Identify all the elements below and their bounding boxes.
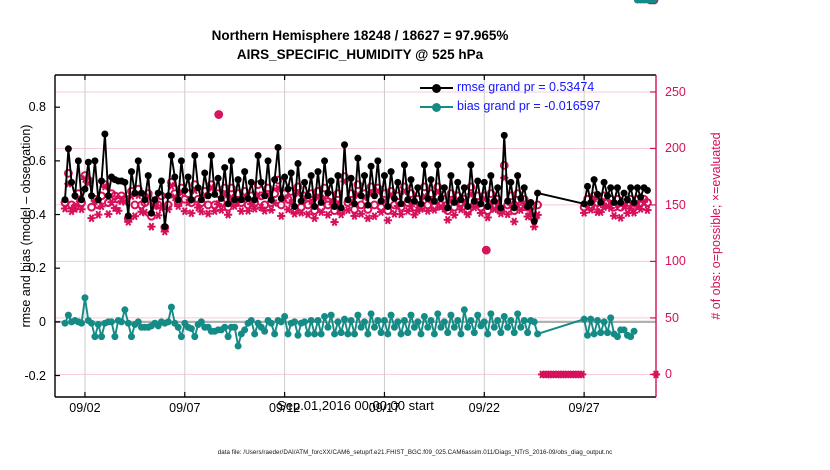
series-marker [507, 179, 514, 186]
series-marker [584, 332, 591, 339]
series-marker [531, 318, 538, 325]
series-marker [181, 187, 188, 194]
series-marker [268, 320, 275, 327]
series-marker [161, 223, 168, 230]
series-marker [424, 195, 431, 202]
x-tick-label: 09/02 [69, 401, 100, 415]
series-marker [304, 330, 311, 337]
series-marker [358, 192, 365, 199]
series-marker [225, 333, 232, 340]
series-marker [351, 330, 358, 337]
series-marker [308, 317, 315, 324]
series-marker [98, 177, 105, 184]
series-marker [191, 152, 198, 159]
series-marker [581, 200, 588, 207]
series-marker [481, 318, 488, 325]
series-marker [121, 306, 128, 313]
series-marker [621, 190, 628, 197]
series-marker [318, 199, 325, 206]
series-marker [235, 176, 242, 183]
series-marker [637, 194, 644, 201]
series-marker [467, 317, 474, 324]
series-marker [75, 157, 82, 164]
series-marker [331, 203, 338, 210]
series-marker [451, 324, 458, 331]
y-tick-label-right: 250 [665, 85, 686, 99]
series-marker [408, 176, 415, 183]
series-marker [321, 313, 328, 320]
series-marker [491, 324, 498, 331]
series-marker [471, 329, 478, 336]
series-marker [314, 317, 321, 324]
data-file-path: data file: /Users/raeder/DAI/ATM_forcXX/… [0, 449, 830, 456]
series-marker [331, 330, 338, 337]
series-marker [341, 141, 348, 148]
series-marker [514, 172, 521, 179]
series-marker [494, 317, 501, 324]
series-marker [531, 218, 538, 225]
series-marker [218, 195, 225, 202]
series-marker [364, 202, 371, 209]
series-marker [497, 329, 504, 336]
series-marker [421, 313, 428, 320]
series-marker [491, 198, 498, 205]
series-marker [171, 173, 178, 180]
series-marker [278, 195, 285, 202]
series-marker [195, 184, 202, 191]
series-marker [338, 204, 345, 211]
series-marker [338, 329, 345, 336]
series-marker [91, 157, 98, 164]
series-marker [281, 173, 288, 180]
series-marker [334, 318, 341, 325]
series-marker [504, 324, 511, 331]
y-axis-label-left: rmse and bias (model – observation) [19, 76, 33, 376]
series-marker [594, 317, 601, 324]
series-marker [474, 177, 481, 184]
series-marker [591, 330, 598, 337]
series-marker [644, 187, 651, 194]
series-marker [241, 168, 248, 175]
series-marker [85, 159, 92, 166]
series-marker [241, 326, 248, 333]
series-marker [421, 161, 428, 168]
series-marker [517, 195, 524, 202]
series-marker [394, 179, 401, 186]
series-marker [294, 160, 301, 167]
series-marker [258, 179, 265, 186]
series-marker [198, 196, 205, 203]
y-axis-label-right: # of obs: o=possible; ×=evaluated [709, 76, 723, 376]
series-marker [594, 191, 601, 198]
y-tick-label-right: 50 [665, 311, 679, 325]
series-marker [444, 204, 451, 211]
series-marker [91, 333, 98, 340]
series-marker [408, 312, 415, 319]
series-marker [78, 196, 85, 203]
series-marker [381, 317, 388, 324]
series-marker [328, 312, 335, 319]
series-marker [394, 318, 401, 325]
series-marker [414, 318, 421, 325]
series-marker [285, 330, 292, 337]
series-marker [225, 200, 232, 207]
series-marker [371, 192, 378, 199]
series-marker [424, 324, 431, 331]
series-marker [461, 184, 468, 191]
series-marker [417, 200, 424, 207]
y-tick-label-left: 0.6 [0, 154, 46, 168]
series-marker [178, 333, 185, 340]
series-marker [324, 190, 331, 197]
x-tick-label: 09/22 [469, 401, 500, 415]
series-marker [434, 310, 441, 317]
series-marker [265, 157, 272, 164]
series-marker [384, 330, 391, 337]
series-marker [221, 164, 228, 171]
series-marker [185, 173, 192, 180]
series-marker [175, 196, 182, 203]
series-marker [511, 329, 518, 336]
series-marker [175, 324, 182, 331]
series-marker [601, 179, 608, 186]
series-marker [261, 192, 268, 199]
y-tick-label-left: -0.2 [0, 369, 46, 383]
series-marker [98, 333, 105, 340]
series-marker [111, 333, 118, 340]
series-marker [145, 172, 152, 179]
series-marker [441, 184, 448, 191]
series-marker [294, 332, 301, 339]
series-marker [461, 306, 468, 313]
series-marker [138, 190, 145, 197]
series-marker [471, 198, 478, 205]
series-marker [151, 196, 158, 203]
series-marker [434, 161, 441, 168]
series-marker [285, 186, 292, 193]
series-marker [95, 321, 102, 328]
series-marker [457, 330, 464, 337]
series-marker [484, 330, 491, 337]
series-marker [121, 179, 128, 186]
series-marker [378, 329, 385, 336]
series-marker [141, 196, 148, 203]
series-marker [68, 179, 75, 186]
series-marker [291, 203, 298, 210]
series-marker [268, 196, 275, 203]
series-marker [634, 184, 641, 191]
series-marker [188, 325, 195, 332]
series-marker [431, 198, 438, 205]
series-marker [191, 333, 198, 340]
series-marker [411, 198, 418, 205]
series-marker [381, 172, 388, 179]
series-marker [158, 177, 165, 184]
series-marker [334, 172, 341, 179]
series-marker [78, 320, 85, 327]
series-marker [444, 329, 451, 336]
series-marker [341, 316, 348, 323]
series-marker [238, 196, 245, 203]
series-marker [511, 204, 518, 211]
series-marker [324, 324, 331, 331]
series-marker [61, 320, 68, 327]
series-marker [617, 199, 624, 206]
series-marker [155, 190, 162, 197]
series-marker [504, 198, 511, 205]
series-marker [614, 333, 621, 340]
x-tick-label: 09/07 [169, 401, 200, 415]
series-marker [597, 329, 604, 336]
series-marker [71, 192, 78, 199]
series-marker [604, 192, 611, 199]
series-marker [248, 317, 255, 324]
series-marker [255, 152, 262, 159]
series-marker [288, 169, 295, 176]
series-marker [627, 184, 634, 191]
series-marker [521, 184, 528, 191]
series-marker [248, 179, 255, 186]
y-tick-label-left: 0.4 [0, 208, 46, 222]
legend-label-rmse: rmse grand pr = 0.53474 [457, 78, 594, 97]
legend-label-bias: bias grand pr = -0.016597 [457, 97, 601, 116]
series-marker [354, 312, 361, 319]
series-marker [125, 212, 132, 219]
series-marker [597, 199, 604, 206]
series-marker [81, 294, 88, 301]
series-marker [527, 199, 534, 206]
series-marker [251, 330, 258, 337]
x-tick-label: 09/12 [269, 401, 300, 415]
series-marker [368, 310, 375, 317]
series-marker [348, 175, 355, 182]
series-marker [487, 310, 494, 317]
series-marker [271, 330, 278, 337]
series-marker [275, 144, 282, 151]
series-marker [454, 179, 461, 186]
y-tick-label-right: 200 [665, 141, 686, 155]
series-marker [101, 131, 108, 138]
series-marker [631, 199, 638, 206]
y-tick-label-right: 0 [665, 367, 672, 381]
series-marker [374, 317, 381, 324]
series-marker [501, 132, 508, 139]
series-marker [614, 184, 621, 191]
series-marker [131, 190, 138, 197]
series-marker [261, 328, 268, 335]
series-marker [201, 169, 208, 176]
series-marker [208, 152, 215, 159]
y-tick-label-left: 0.8 [0, 100, 46, 114]
y-tick-label-right: 100 [665, 254, 686, 268]
series-marker [378, 198, 385, 205]
series-marker [607, 184, 614, 191]
series-marker [374, 157, 381, 164]
series-marker [447, 312, 454, 319]
y-tick-label-left: 0.2 [0, 261, 46, 275]
series-marker [354, 155, 361, 162]
series-marker [231, 324, 238, 331]
series-marker [427, 176, 434, 183]
series-marker [301, 179, 308, 186]
series-marker [245, 195, 252, 202]
series-marker [314, 168, 321, 175]
series-marker [591, 176, 598, 183]
series-marker [534, 330, 541, 337]
series-marker [108, 318, 115, 325]
legend-marker-rmse-icon [420, 82, 453, 94]
series-marker [118, 318, 125, 325]
series-marker [417, 330, 424, 337]
obs-zero-marker [580, 372, 585, 377]
series-marker [464, 324, 471, 331]
x-tick-label: 09/17 [369, 401, 400, 415]
y-tick-label-left: 0 [0, 315, 46, 329]
legend-item-rmse: rmse grand pr = 0.53474 [420, 78, 601, 97]
series-marker [65, 145, 72, 152]
series-marker [178, 157, 185, 164]
series-marker [221, 324, 228, 331]
series-marker [81, 186, 88, 193]
series-marker [301, 318, 308, 325]
series-marker [631, 328, 638, 335]
series-marker [148, 210, 155, 217]
series-marker [304, 192, 311, 199]
series-marker [467, 161, 474, 168]
series-marker [88, 320, 95, 327]
series-marker [497, 204, 504, 211]
series-marker [404, 196, 411, 203]
series-marker [401, 317, 408, 324]
series-marker [624, 196, 631, 203]
series-marker [388, 168, 395, 175]
series-marker [587, 316, 594, 323]
series-marker [521, 317, 528, 324]
series-marker [484, 203, 491, 210]
series-marker [165, 318, 172, 325]
series-marker [318, 330, 325, 337]
series-marker [348, 317, 355, 324]
series-marker [364, 330, 371, 337]
series-marker [607, 314, 614, 321]
series-marker [95, 196, 102, 203]
series-marker [61, 196, 68, 203]
series-marker [291, 318, 298, 325]
series-marker [328, 177, 335, 184]
series-marker [447, 172, 454, 179]
series-marker [437, 195, 444, 202]
series-marker [168, 304, 175, 311]
series-marker [601, 318, 608, 325]
series-marker [487, 172, 494, 179]
series-marker [235, 343, 242, 350]
series-marker [457, 196, 464, 203]
series-marker [65, 312, 72, 319]
series-marker [414, 184, 421, 191]
chart-legend: rmse grand pr = 0.53474 bias grand pr = … [420, 78, 601, 116]
series-marker [474, 312, 481, 319]
series-marker [534, 190, 541, 197]
series-marker [168, 152, 175, 159]
series-marker [398, 330, 405, 337]
legend-marker-bias-icon [420, 101, 453, 113]
series-marker [454, 317, 461, 324]
series-marker [311, 203, 318, 210]
legend-item-bias: bias grand pr = -0.016597 [420, 97, 601, 116]
series-marker [344, 196, 351, 203]
series-marker [427, 317, 434, 324]
series-marker [401, 161, 408, 168]
series-marker [431, 330, 438, 337]
series-marker [388, 312, 395, 319]
series-marker [188, 196, 195, 203]
series-marker [464, 203, 471, 210]
series-marker [298, 198, 305, 205]
series-marker [308, 172, 315, 179]
plot-background [55, 75, 656, 397]
series-marker [391, 195, 398, 202]
x-tick-label: 09/27 [568, 401, 599, 415]
series-marker [481, 179, 488, 186]
series-marker [271, 176, 278, 183]
series-marker [128, 333, 135, 340]
series-marker [441, 318, 448, 325]
series-marker [384, 203, 391, 210]
figure-canvas: Northern Hemisphere 18248 / 18627 = 97.9… [0, 0, 830, 470]
y-tick-label-right: 150 [665, 198, 686, 212]
series-marker [125, 320, 132, 327]
series-marker [205, 192, 212, 199]
series-marker [404, 329, 411, 336]
series-marker [135, 157, 142, 164]
series-marker [165, 192, 172, 199]
series-marker [581, 316, 588, 323]
series-marker [128, 168, 135, 175]
series-marker [311, 330, 318, 337]
series-marker [211, 191, 218, 198]
series-marker [611, 199, 618, 206]
series-marker [231, 196, 238, 203]
series-marker [604, 329, 611, 336]
series-marker [228, 157, 235, 164]
series-marker [368, 163, 375, 170]
series-marker [361, 172, 368, 179]
series-marker [477, 200, 484, 207]
series-marker [584, 183, 591, 190]
series-marker [587, 199, 594, 206]
series-marker [494, 184, 501, 191]
series-marker [321, 157, 328, 164]
series-marker [451, 199, 458, 206]
series-marker [105, 192, 112, 199]
x-axis-label: Sep.01,2016 00:00:00 start [55, 398, 656, 413]
series-marker [524, 329, 531, 336]
series-marker [215, 175, 222, 182]
series-marker [281, 313, 288, 320]
series-marker [501, 313, 508, 320]
series-marker [507, 317, 514, 324]
series-marker [398, 200, 405, 207]
series-marker [351, 200, 358, 207]
series-marker [514, 310, 521, 317]
series-marker [371, 324, 378, 331]
series-marker [361, 318, 368, 325]
series-marker [251, 196, 258, 203]
series-marker [344, 330, 351, 337]
series-marker [517, 324, 524, 331]
series-marker [88, 192, 95, 199]
